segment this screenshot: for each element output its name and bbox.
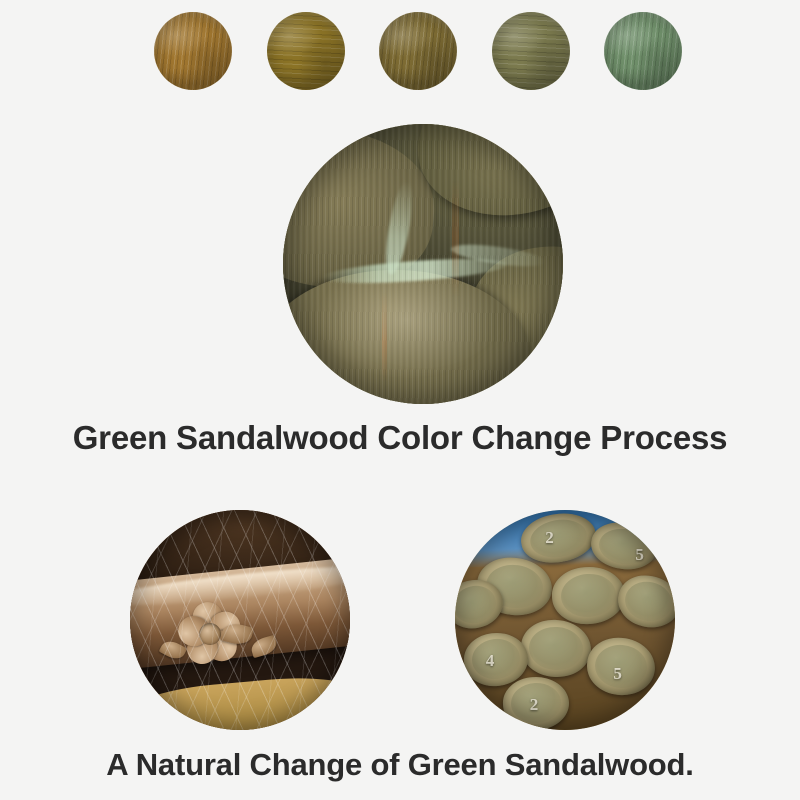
- color-swatch-stage-2: [267, 12, 345, 90]
- color-swatch-stage-5: [604, 12, 682, 90]
- vignette: [130, 510, 350, 730]
- carved-floral-bangle-image: [130, 510, 350, 730]
- stacked-sandalwood-logs-image: 2 5 5 4 2: [455, 510, 675, 730]
- swatch-texture: [379, 12, 457, 90]
- aged-sandalwood-logs-image: [283, 124, 563, 404]
- vignette: [455, 510, 675, 730]
- bottom-caption: A Natural Change of Green Sandalwood.: [0, 747, 800, 783]
- swatch-texture: [154, 12, 232, 90]
- color-swatch-stage-3: [379, 12, 457, 90]
- swatch-texture: [492, 12, 570, 90]
- swatch-texture: [604, 12, 682, 90]
- page-title: Green Sandalwood Color Change Process: [0, 419, 800, 457]
- color-swatch-stage-1: [154, 12, 232, 90]
- color-swatch-stage-4: [492, 12, 570, 90]
- vignette: [283, 124, 563, 404]
- swatch-texture: [267, 12, 345, 90]
- product-detail-image: Green Sandalwood Color Change Process: [0, 0, 800, 800]
